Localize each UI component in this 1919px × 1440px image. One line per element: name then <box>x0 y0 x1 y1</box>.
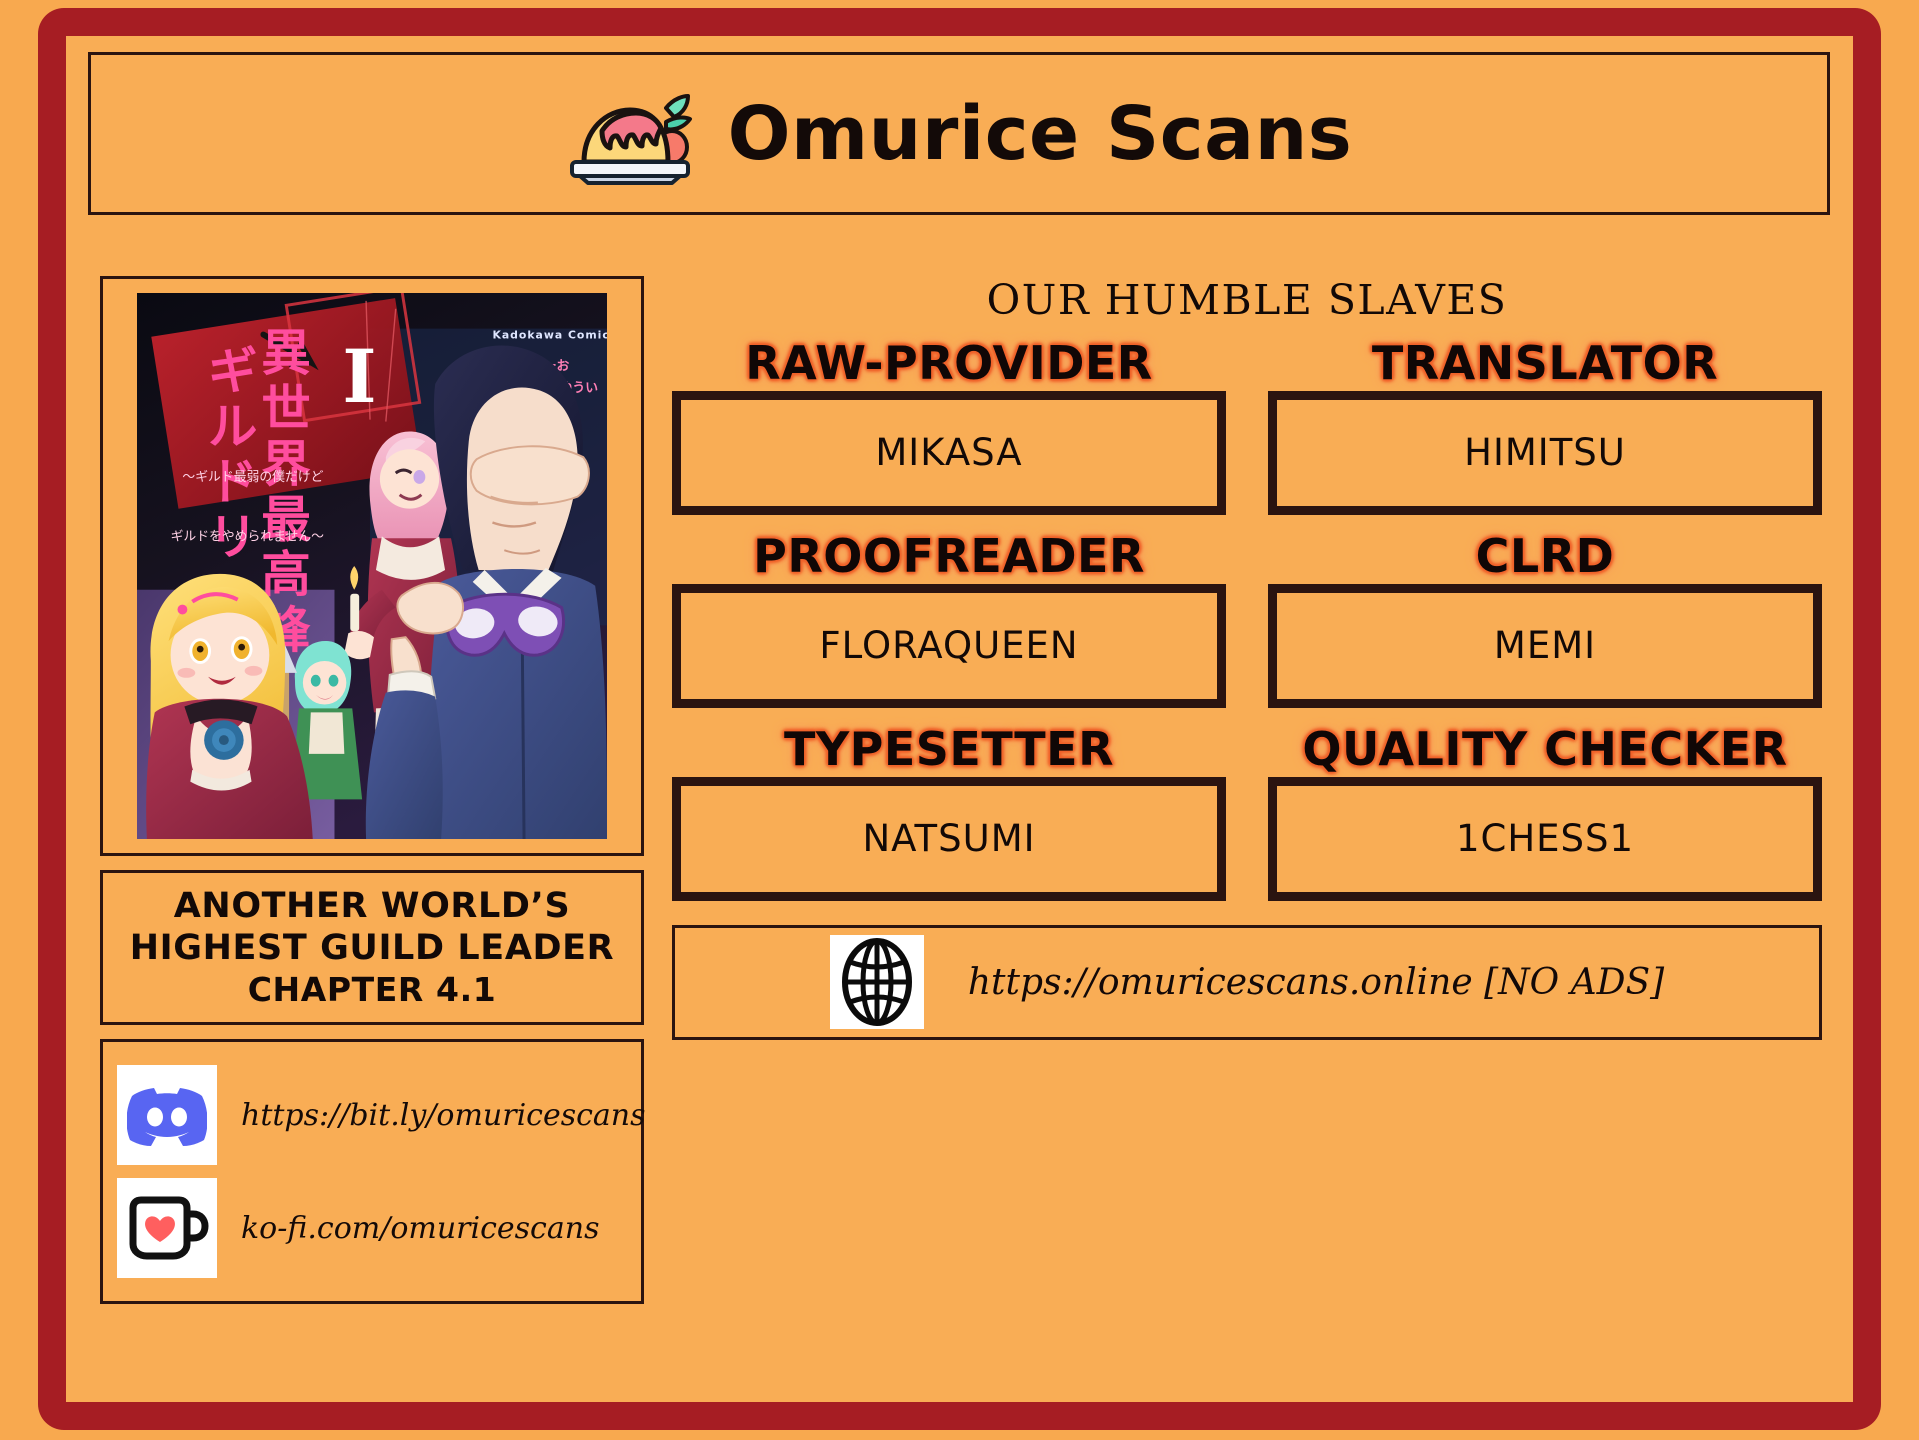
role-label: QUALITY CHECKER <box>1302 726 1787 773</box>
cover-frame: I ギル ドリ ーダ 異世 界最 高峰 ～ギルド最弱の僕だけど ギルドをやめられ… <box>100 276 644 856</box>
svg-text:～ギルド最弱の僕だけど: ～ギルド最弱の僕だけど <box>182 470 323 485</box>
credit-quality-checker: QUALITY CHECKER 1CHESS1 <box>1268 726 1822 901</box>
omurice-plate-icon <box>566 82 694 186</box>
website-bar[interactable]: https://omuricescans.online [NO ADS] <box>672 925 1822 1040</box>
role-label: PROOFREADER <box>753 533 1145 580</box>
discord-link-row[interactable]: https://bit.ly/omuricescans <box>117 1065 627 1165</box>
website-url[interactable]: https://omuricescans.online [NO ADS] <box>968 962 1664 1003</box>
kofi-link-row[interactable]: ko-fi.com/omuricescans <box>117 1178 627 1278</box>
credits-grid: RAW-PROVIDER MIKASA TRANSLATOR HIMITSU P… <box>672 340 1822 919</box>
left-column: I ギル ドリ ーダ 異世 界最 高峰 ～ギルド最弱の僕だけど ギルドをやめられ… <box>100 276 644 1304</box>
svg-text:ル: ル <box>208 397 257 455</box>
role-label: CLRD <box>1476 533 1615 580</box>
credit-name: 1CHESS1 <box>1456 817 1634 860</box>
svg-text:ギ: ギ <box>208 342 257 400</box>
discord-icon[interactable] <box>117 1065 217 1165</box>
series-title-box: ANOTHER WORLD’S HIGHEST GUILD LEADER CHA… <box>100 870 644 1025</box>
svg-text:Kadokawa Comics A: Kadokawa Comics A <box>492 328 607 341</box>
discord-url[interactable]: https://bit.ly/omuricescans <box>241 1098 646 1133</box>
series-title-line1: ANOTHER WORLD’S <box>174 885 571 928</box>
globe-icon[interactable] <box>830 935 924 1029</box>
name-box: MEMI <box>1268 584 1822 708</box>
credits-heading: OUR HUMBLE SLAVES <box>672 276 1822 324</box>
svg-text:ギルドをやめられません～: ギルドをやめられません～ <box>171 529 325 544</box>
kofi-cup-icon[interactable] <box>117 1178 217 1278</box>
name-box: MIKASA <box>672 391 1226 515</box>
credit-name: MIKASA <box>875 431 1022 474</box>
name-box: FLORAQUEEN <box>672 584 1226 708</box>
role-label: RAW-PROVIDER <box>745 340 1152 387</box>
svg-text:異: 異 <box>261 324 310 382</box>
role-label: TYPESETTER <box>784 726 1114 773</box>
credit-name: MEMI <box>1494 624 1596 667</box>
site-title: Omurice Scans <box>728 97 1353 171</box>
svg-text:I: I <box>342 334 376 420</box>
credit-raw-provider: RAW-PROVIDER MIKASA <box>672 340 1226 515</box>
credit-clrd: CLRD MEMI <box>1268 533 1822 708</box>
header-bar: Omurice Scans <box>88 52 1830 215</box>
chapter-label: CHAPTER 4.1 <box>248 970 497 1010</box>
svg-text:高: 高 <box>261 546 310 604</box>
credit-name: FLORAQUEEN <box>819 624 1078 667</box>
kofi-url[interactable]: ko-fi.com/omuricescans <box>241 1211 599 1246</box>
credit-name: HIMITSU <box>1464 431 1626 474</box>
credit-typesetter: TYPESETTER NATSUMI <box>672 726 1226 901</box>
credits-column: OUR HUMBLE SLAVES RAW-PROVIDER MIKASA TR… <box>672 276 1822 1040</box>
role-label: TRANSLATOR <box>1372 340 1718 387</box>
manga-cover-art: I ギル ドリ ーダ 異世 界最 高峰 ～ギルド最弱の僕だけど ギルドをやめられ… <box>137 293 607 839</box>
social-links-box: https://bit.ly/omuricescans ko-fi.com/om… <box>100 1039 644 1304</box>
name-box: 1CHESS1 <box>1268 777 1822 901</box>
name-box: HIMITSU <box>1268 391 1822 515</box>
credit-proofreader: PROOFREADER FLORAQUEEN <box>672 533 1226 708</box>
credit-name: NATSUMI <box>862 817 1035 860</box>
svg-text:世: 世 <box>261 380 310 438</box>
credit-translator: TRANSLATOR HIMITSU <box>1268 340 1822 515</box>
name-box: NATSUMI <box>672 777 1226 901</box>
series-title-line2: HIGHEST GUILD LEADER <box>130 927 614 970</box>
